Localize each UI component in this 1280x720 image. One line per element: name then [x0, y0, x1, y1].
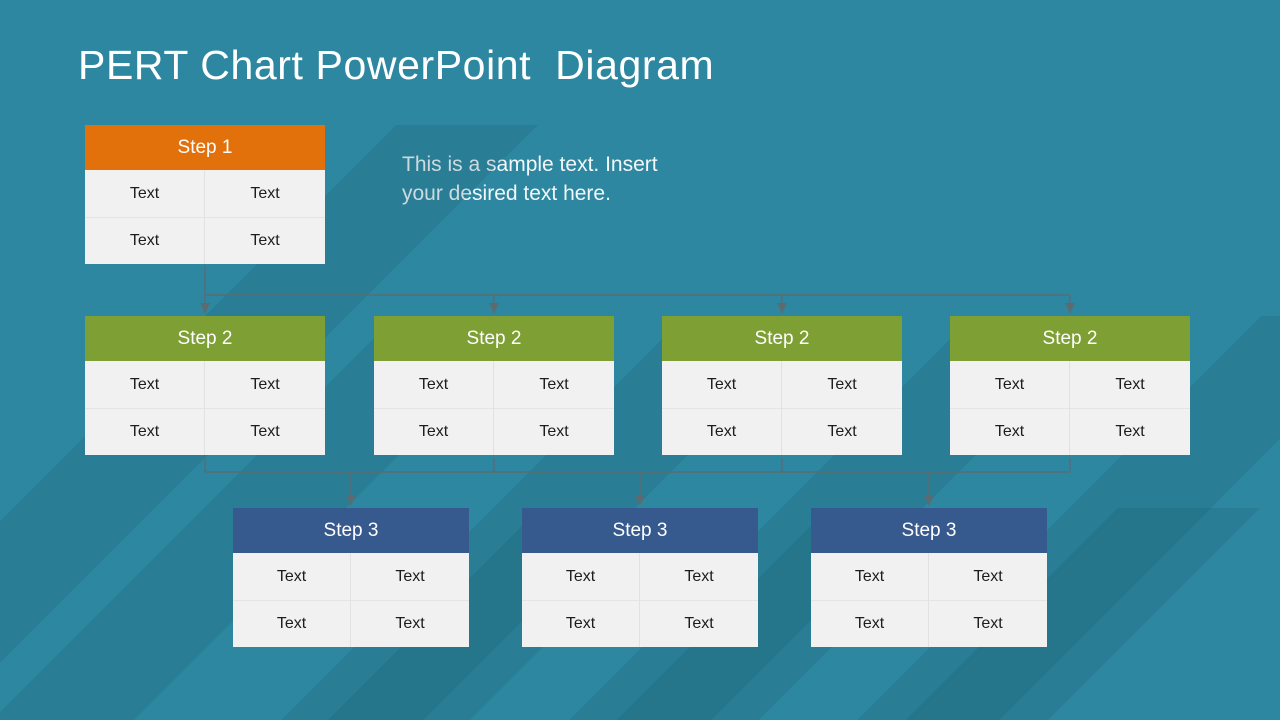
node-header-step3-2: Step 3 [522, 508, 758, 553]
node-cell[interactable]: Text [85, 408, 205, 455]
arrowhead-step3-2 [635, 495, 645, 506]
node-cell[interactable]: Text [811, 553, 929, 600]
node-cell[interactable]: Text [662, 408, 782, 455]
arrowhead-step2-1 [200, 303, 210, 314]
node-cell[interactable]: Text [85, 217, 205, 264]
node-body-step2-3: Text Text Text Text [662, 361, 902, 455]
node-header-step2-1: Step 2 [85, 316, 325, 361]
node-cell[interactable]: Text [950, 361, 1070, 408]
sample-description-text: This is a sample text. Insert your desir… [402, 150, 658, 208]
node-body-step3-2: Text Text Text Text [522, 553, 758, 647]
node-step3-2[interactable]: Step 3 Text Text Text Text [522, 508, 758, 647]
node-step3-3[interactable]: Step 3 Text Text Text Text [811, 508, 1047, 647]
node-header-step2-2: Step 2 [374, 316, 614, 361]
node-step1-1[interactable]: Step 1 Text Text Text Text [85, 125, 325, 264]
node-cell[interactable]: Text [85, 361, 205, 408]
node-cell[interactable]: Text [811, 600, 929, 647]
node-step2-3[interactable]: Step 2 Text Text Text Text [662, 316, 902, 455]
node-cell[interactable]: Text [522, 553, 640, 600]
node-body-step2-4: Text Text Text Text [950, 361, 1190, 455]
node-cell[interactable]: Text [522, 600, 640, 647]
node-header-step1-1: Step 1 [85, 125, 325, 170]
slide-canvas: PERT Chart PowerPoint Diagram This is a … [0, 0, 1280, 720]
page-title: PERT Chart PowerPoint Diagram [78, 42, 714, 89]
node-body-step2-2: Text Text Text Text [374, 361, 614, 455]
connector-arrowheads [200, 303, 1075, 506]
arrowhead-step3-3 [924, 495, 934, 506]
node-cell[interactable]: Text [782, 408, 902, 455]
node-cell[interactable]: Text [205, 170, 325, 217]
arrowhead-step3-1 [346, 495, 356, 506]
node-cell[interactable]: Text [233, 600, 351, 647]
node-body-step1-1: Text Text Text Text [85, 170, 325, 264]
arrowhead-step2-2 [489, 303, 499, 314]
node-body-step3-1: Text Text Text Text [233, 553, 469, 647]
node-cell[interactable]: Text [782, 361, 902, 408]
node-cell[interactable]: Text [205, 408, 325, 455]
node-cell[interactable]: Text [640, 600, 758, 647]
node-cell[interactable]: Text [233, 553, 351, 600]
node-cell[interactable]: Text [205, 361, 325, 408]
node-cell[interactable]: Text [929, 553, 1047, 600]
node-cell[interactable]: Text [1070, 408, 1190, 455]
node-cell[interactable]: Text [1070, 361, 1190, 408]
node-header-step2-4: Step 2 [950, 316, 1190, 361]
node-step2-2[interactable]: Step 2 Text Text Text Text [374, 316, 614, 455]
node-cell[interactable]: Text [351, 600, 469, 647]
node-header-step3-1: Step 3 [233, 508, 469, 553]
node-cell[interactable]: Text [351, 553, 469, 600]
node-step2-1[interactable]: Step 2 Text Text Text Text [85, 316, 325, 455]
node-header-step2-3: Step 2 [662, 316, 902, 361]
node-cell[interactable]: Text [494, 408, 614, 455]
node-body-step2-1: Text Text Text Text [85, 361, 325, 455]
node-body-step3-3: Text Text Text Text [811, 553, 1047, 647]
node-step2-4[interactable]: Step 2 Text Text Text Text [950, 316, 1190, 455]
arrowhead-step2-3 [777, 303, 787, 314]
node-cell[interactable]: Text [929, 600, 1047, 647]
node-cell[interactable]: Text [950, 408, 1070, 455]
node-cell[interactable]: Text [374, 408, 494, 455]
node-cell[interactable]: Text [640, 553, 758, 600]
node-step3-1[interactable]: Step 3 Text Text Text Text [233, 508, 469, 647]
arrowhead-step2-4 [1065, 303, 1075, 314]
node-cell[interactable]: Text [205, 217, 325, 264]
node-cell[interactable]: Text [494, 361, 614, 408]
node-header-step3-3: Step 3 [811, 508, 1047, 553]
node-cell[interactable]: Text [662, 361, 782, 408]
node-cell[interactable]: Text [85, 170, 205, 217]
node-cell[interactable]: Text [374, 361, 494, 408]
